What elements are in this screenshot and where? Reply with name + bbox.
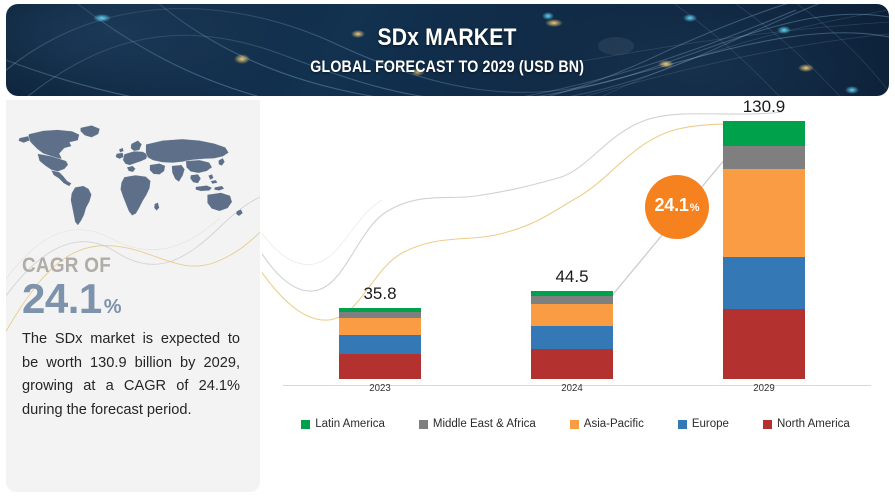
infographic-card: SDx MARKET GLOBAL FORECAST TO 2029 (USD … (0, 0, 895, 498)
legend-item[interactable]: North America (763, 418, 850, 430)
bar-stack (531, 291, 613, 379)
bar-total-label: 130.9 (723, 100, 805, 117)
bar-segment[interactable] (723, 121, 805, 146)
bar-total-label: 44.5 (531, 267, 613, 287)
legend-color-swatch (763, 420, 772, 429)
bar-segment[interactable] (723, 169, 805, 257)
cagr-value: 24.1 (22, 278, 102, 320)
legend-color-swatch (570, 420, 579, 429)
cagr-value-row: 24.1 % (22, 278, 252, 320)
x-axis-label: 2023 (342, 382, 417, 394)
bar-stack (723, 121, 805, 379)
bar-total-label: 35.8 (339, 284, 421, 304)
legend-label: Asia-Pacific (584, 418, 644, 430)
cagr-percent-symbol: % (104, 296, 122, 319)
legend-label: North America (777, 418, 850, 430)
legend-label: Latin America (315, 418, 385, 430)
bar-segment[interactable] (339, 318, 421, 335)
cagr-highlight: CAGR OF 24.1 % (22, 255, 252, 320)
x-axis-label: 2029 (726, 382, 801, 394)
bar-segment[interactable] (531, 326, 613, 349)
bar-segment[interactable] (531, 296, 613, 304)
bar-segment[interactable] (723, 257, 805, 309)
page-subtitle: GLOBAL FORECAST TO 2029 (USD BN) (311, 58, 585, 77)
legend-item[interactable]: Latin America (301, 418, 385, 430)
bar-segment[interactable] (723, 309, 805, 379)
legend-color-swatch (678, 420, 687, 429)
x-axis-label: 2024 (534, 382, 609, 394)
bar-chart-plot: 35.8 2023 44.5 2024 130.9 2029 24.1 % (262, 100, 889, 392)
bar-segment[interactable] (339, 354, 421, 379)
cagr-callout-value: 24.1 (654, 195, 688, 216)
legend-item[interactable]: Asia-Pacific (570, 418, 644, 430)
header-text-block: SDx MARKET GLOBAL FORECAST TO 2029 (USD … (6, 4, 889, 96)
legend-label: Middle East & Africa (433, 418, 536, 430)
legend-label: Europe (692, 418, 729, 430)
legend-item[interactable]: Middle East & Africa (419, 418, 536, 430)
cagr-callout-bubble[interactable]: 24.1 % (645, 175, 709, 239)
cagr-label: CAGR OF (22, 255, 229, 277)
legend-color-swatch (419, 420, 428, 429)
bar-segment[interactable] (531, 349, 613, 379)
legend-item[interactable]: Europe (678, 418, 729, 430)
bar-segment[interactable] (339, 335, 421, 354)
bar-segment[interactable] (723, 146, 805, 169)
cagr-callout-percent: % (690, 202, 700, 214)
chart-legend: Latin AmericaMiddle East & AfricaAsia-Pa… (262, 412, 889, 436)
world-map-graphic (14, 108, 258, 248)
bar-stack (339, 308, 421, 379)
bar-segment[interactable] (531, 304, 613, 326)
header-banner: SDx MARKET GLOBAL FORECAST TO 2029 (USD … (6, 4, 889, 96)
legend-color-swatch (301, 420, 310, 429)
summary-panel: CAGR OF 24.1 % The SDx market is expecte… (6, 100, 260, 492)
summary-description: The SDx market is expected to be worth 1… (22, 328, 240, 423)
page-title: SDx MARKET (378, 24, 517, 52)
